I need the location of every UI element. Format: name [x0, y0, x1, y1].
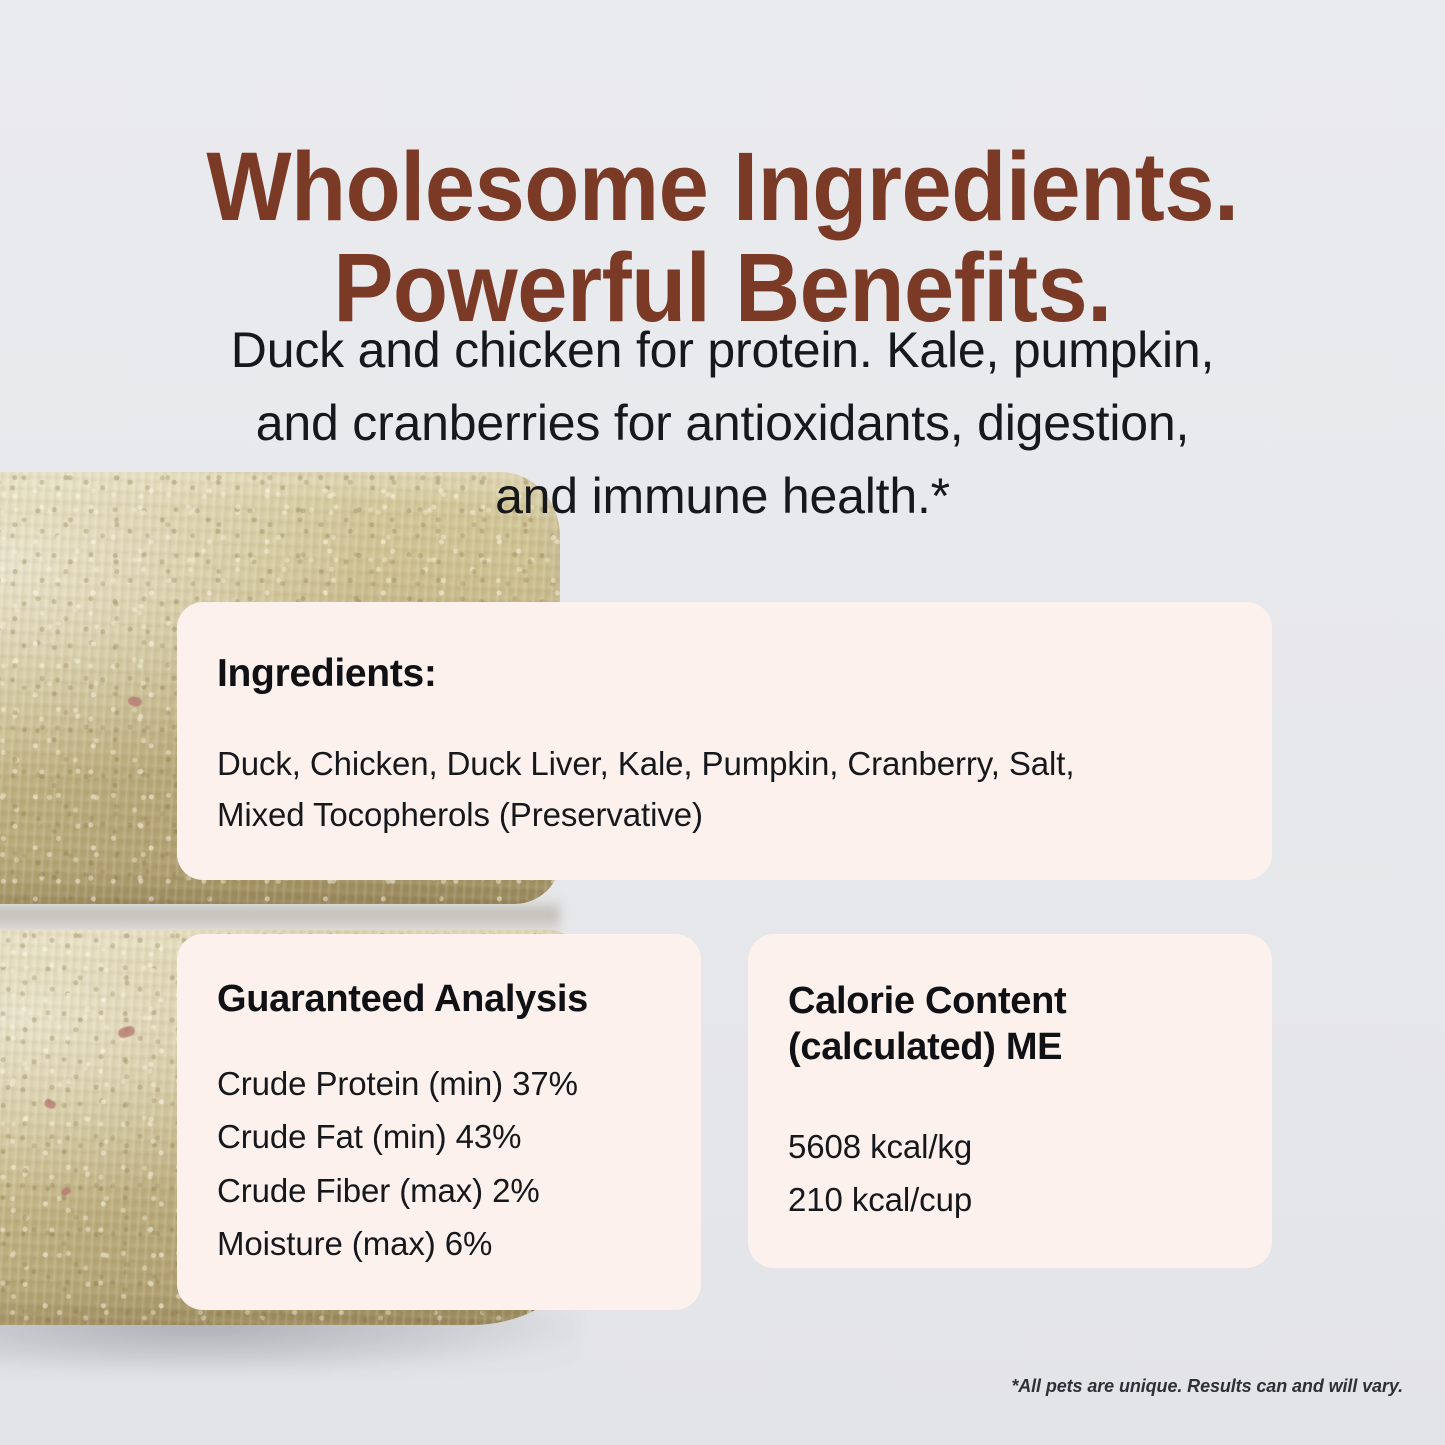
ingredients-list: Duck, Chicken, Duck Liver, Kale, Pumpkin… [217, 738, 1074, 841]
guaranteed-analysis-list: Crude Protein (min) 37% Crude Fat (min) … [217, 1057, 578, 1271]
page-title: Wholesome Ingredients. Powerful Benefits… [51, 137, 1395, 339]
product-infographic: Wholesome Ingredients. Powerful Benefits… [0, 0, 1445, 1445]
subtitle-line-2: and cranberries for antioxidants, digest… [140, 387, 1305, 460]
ingredients-card-title: Ingredients: [217, 652, 437, 696]
analysis-row: Crude Protein (min) 37% [217, 1057, 578, 1110]
food-puck-seam [0, 898, 560, 932]
calorie-content-list: 5608 kcal/kg 210 kcal/cup [788, 1120, 972, 1227]
ingredients-line-1: Duck, Chicken, Duck Liver, Kale, Pumpkin… [217, 738, 1074, 789]
headline-line-1: Wholesome Ingredients. [51, 137, 1395, 238]
guaranteed-analysis-title: Guaranteed Analysis [217, 978, 588, 1021]
calorie-content-card: Calorie Content (calculated) ME 5608 kca… [748, 934, 1272, 1268]
calorie-row: 210 kcal/cup [788, 1173, 972, 1226]
subtitle: Duck and chicken for protein. Kale, pump… [140, 314, 1305, 533]
ingredients-card: Ingredients: Duck, Chicken, Duck Liver, … [177, 602, 1272, 880]
footnote-disclaimer: *All pets are unique. Results can and wi… [1011, 1376, 1403, 1397]
analysis-row: Moisture (max) 6% [217, 1217, 578, 1270]
ingredients-line-2: Mixed Tocopherols (Preservative) [217, 789, 1074, 840]
calorie-title-line-1: Calorie Content [788, 978, 1066, 1024]
calorie-row: 5608 kcal/kg [788, 1120, 972, 1173]
subtitle-line-1: Duck and chicken for protein. Kale, pump… [140, 314, 1305, 387]
guaranteed-analysis-card: Guaranteed Analysis Crude Protein (min) … [177, 934, 701, 1310]
analysis-row: Crude Fat (min) 43% [217, 1110, 578, 1163]
calorie-content-title: Calorie Content (calculated) ME [788, 978, 1066, 1071]
subtitle-line-3: and immune health.* [140, 460, 1305, 533]
calorie-title-line-2: (calculated) ME [788, 1024, 1066, 1070]
analysis-row: Crude Fiber (max) 2% [217, 1164, 578, 1217]
